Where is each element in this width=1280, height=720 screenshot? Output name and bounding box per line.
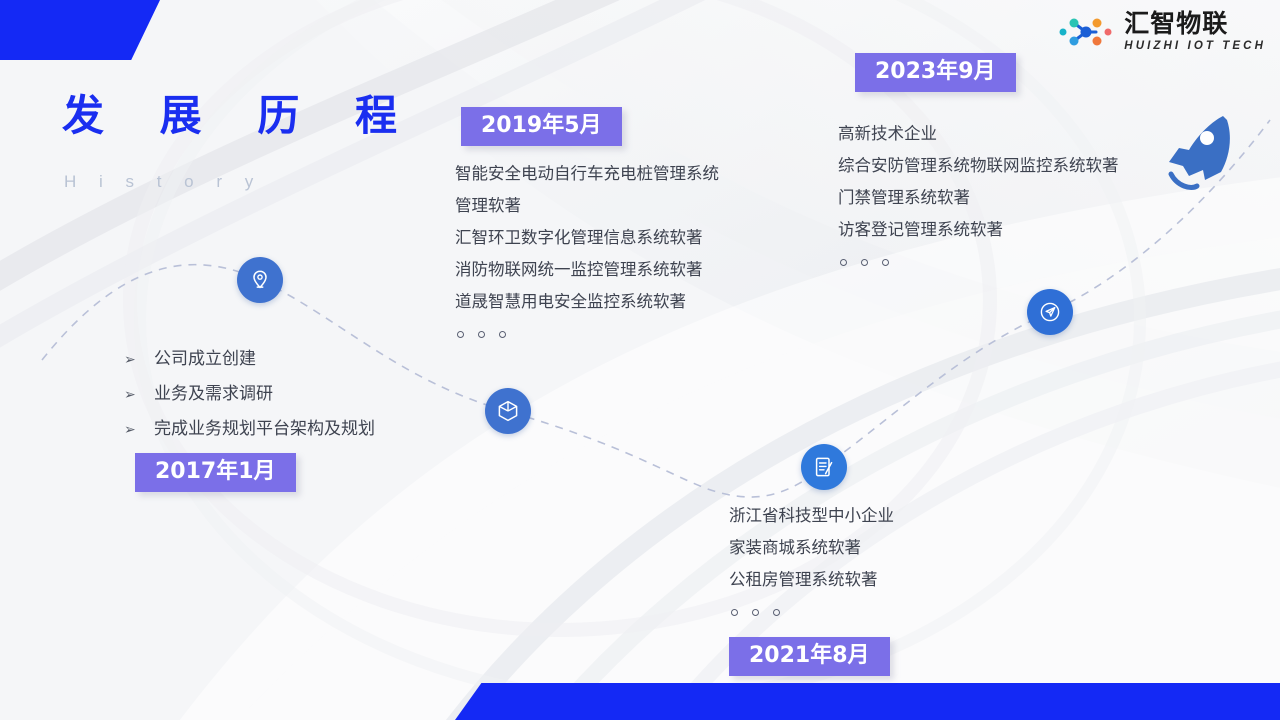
list-item: 门禁管理系统软著	[838, 182, 1119, 214]
arrow-bullet-icon: ➢	[124, 413, 154, 447]
bullet-text: 公司成立创建	[154, 342, 256, 376]
milestone-badge-2023: 2023年9月	[855, 53, 1016, 92]
page-subtitle: H i s t o r y	[64, 172, 262, 192]
bullet-text: 业务及需求调研	[154, 377, 273, 411]
milestone-2017-bullets: ➢ 公司成立创建 ➢ 业务及需求调研 ➢ 完成业务规划平台架构及规划	[124, 342, 375, 447]
logo-name-en: HUIZHI IOT TECH	[1124, 41, 1266, 53]
list-item: 综合安防管理系统物联网监控系统软著	[838, 150, 1119, 182]
milestone-badge-2021: 2021年8月	[729, 637, 890, 676]
list-item: 管理软著	[455, 190, 719, 222]
milestone-badge-2017: 2017年1月	[135, 453, 296, 492]
company-logo: 汇智物联 HUIZHI IOT TECH	[1057, 10, 1266, 54]
location-pin-icon	[248, 268, 272, 292]
ellipsis-marker	[838, 259, 1119, 266]
slide-canvas: 发 展 历 程 H i s t o r y 汇智物联 HUIZHI IOT TE…	[0, 0, 1280, 720]
page-title: 发 展 历 程	[62, 95, 419, 137]
list-item: 道晟智慧用电安全监控系统软著	[455, 286, 719, 318]
logo-name-cn: 汇智物联	[1124, 11, 1266, 36]
list-item: 汇智环卫数字化管理信息系统软著	[455, 222, 719, 254]
list-item: ➢ 公司成立创建	[124, 342, 375, 377]
molecule-network-icon	[1057, 10, 1115, 54]
list-item: 访客登记管理系统软著	[838, 214, 1119, 246]
milestone-2019-lines: 智能安全电动自行车充电桩管理系统 管理软著 汇智环卫数字化管理信息系统软著 消防…	[455, 158, 719, 338]
milestone-badge-2019: 2019年5月	[461, 107, 622, 146]
arrow-bullet-icon: ➢	[124, 343, 154, 377]
ellipsis-marker	[729, 609, 894, 616]
arrow-bullet-icon: ➢	[124, 378, 154, 412]
cube-icon	[496, 399, 520, 423]
timeline-node-2019[interactable]	[485, 388, 531, 434]
list-item: 高新技术企业	[838, 118, 1119, 150]
list-item: 家装商城系统软著	[729, 532, 894, 564]
list-item: 浙江省科技型中小企业	[729, 500, 894, 532]
timeline-node-2021[interactable]	[801, 444, 847, 490]
timeline-node-2023[interactable]	[1027, 289, 1073, 335]
list-item: 消防物联网统一监控管理系统软著	[455, 254, 719, 286]
document-edit-icon	[812, 455, 836, 479]
list-item: ➢ 完成业务规划平台架构及规划	[124, 412, 375, 447]
timeline-node-2017[interactable]	[237, 257, 283, 303]
milestone-2023-lines: 高新技术企业 综合安防管理系统物联网监控系统软著 门禁管理系统软著 访客登记管理…	[838, 118, 1119, 266]
milestone-2021-lines: 浙江省科技型中小企业 家装商城系统软著 公租房管理系统软著	[729, 500, 894, 616]
corner-accent-bottom-right	[455, 683, 1280, 720]
bullet-text: 完成业务规划平台架构及规划	[154, 412, 375, 446]
list-item: 智能安全电动自行车充电桩管理系统	[455, 158, 719, 190]
paper-plane-icon	[1038, 300, 1062, 324]
rocket-icon	[1163, 112, 1237, 192]
list-item: ➢ 业务及需求调研	[124, 377, 375, 412]
list-item: 公租房管理系统软著	[729, 564, 894, 596]
ellipsis-marker	[455, 331, 719, 338]
